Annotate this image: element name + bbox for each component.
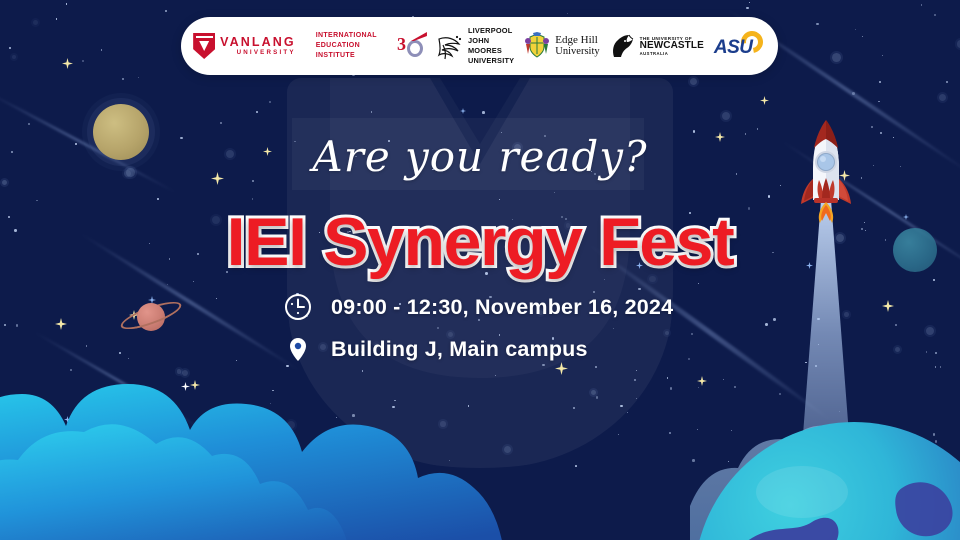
vanlang-subtitle: UNIVERSITY bbox=[220, 49, 296, 56]
newcastle-line3: AUSTRALIA bbox=[640, 51, 704, 56]
logo-international-education-institute: INTERNATIONAL EDUCATION INSTITUTE bbox=[316, 31, 377, 61]
logo-edge-hill-university: Edge Hill University bbox=[524, 32, 599, 60]
anniversary-mark-icon: 3 bbox=[397, 32, 427, 60]
ljmu-line2: JOHN MOORES bbox=[468, 36, 514, 56]
event-time-row: 09:00 - 12:30, November 16, 2024 bbox=[283, 292, 673, 322]
edgehill-line1: Edge Hill bbox=[555, 35, 599, 47]
anniversary-digit-3: 3 bbox=[397, 34, 406, 55]
asu-text: ASU bbox=[714, 37, 753, 59]
vanlang-shield-icon bbox=[193, 33, 215, 59]
ljmu-line3: UNIVERSITY bbox=[468, 56, 514, 66]
logo-30th-anniversary: 3 bbox=[397, 32, 427, 60]
newcastle-line2: NEWCASTLE bbox=[640, 41, 704, 52]
event-location-row: Building J, Main campus bbox=[283, 334, 588, 364]
iei-line2: EDUCATION INSTITUTE bbox=[316, 41, 377, 61]
ljmu-bird-icon bbox=[437, 33, 463, 60]
logo-university-of-newcastle: THE UNIVERSITY OF NEWCASTLE AUSTRALIA bbox=[610, 34, 704, 59]
anniversary-digit-0-ring bbox=[407, 40, 423, 57]
event-location-text: Building J, Main campus bbox=[331, 337, 588, 362]
vanlang-name: VANLANG bbox=[220, 36, 296, 49]
ljmu-line1: LIVERPOOL bbox=[468, 26, 514, 36]
clock-icon bbox=[283, 292, 313, 322]
asu-mark-icon: ASU bbox=[714, 31, 766, 61]
logo-liverpool-john-moores: LIVERPOOL JOHN MOORES UNIVERSITY bbox=[437, 26, 514, 65]
poster-text-content: Are you ready? IEI Synergy Fest 09:00 - … bbox=[0, 0, 960, 540]
iei-line1: INTERNATIONAL bbox=[316, 31, 377, 41]
edgehill-crest-icon bbox=[524, 32, 550, 60]
headline-script: Are you ready? bbox=[0, 132, 960, 181]
newcastle-horse-icon bbox=[610, 34, 635, 59]
logo-asu: ASU bbox=[714, 31, 766, 61]
page-title: IEI Synergy Fest bbox=[0, 203, 960, 281]
event-poster: VANLANG UNIVERSITY INTERNATIONAL EDUCATI… bbox=[0, 0, 960, 540]
partner-logo-bar: VANLANG UNIVERSITY INTERNATIONAL EDUCATI… bbox=[181, 17, 778, 75]
logo-vanlang-university: VANLANG UNIVERSITY bbox=[193, 33, 296, 59]
edgehill-line2: University bbox=[555, 46, 599, 57]
event-time-text: 09:00 - 12:30, November 16, 2024 bbox=[331, 295, 673, 320]
location-pin-icon bbox=[283, 334, 313, 364]
